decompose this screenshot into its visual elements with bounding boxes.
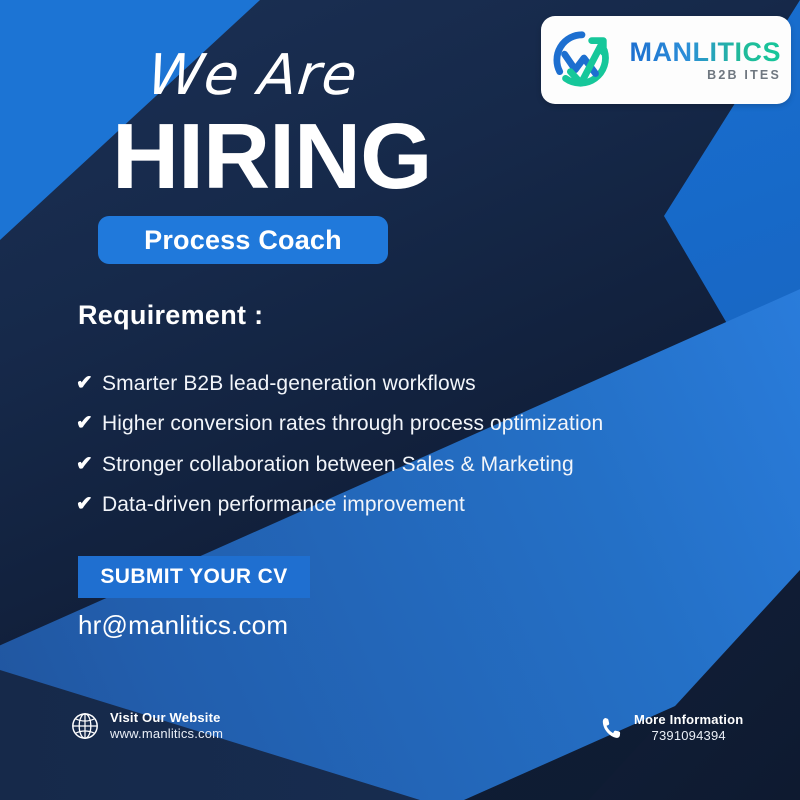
hiring-poster: MANLITICS B2B ITES We Are HIRING Process… [0,0,800,800]
check-icon: ✔ [76,491,102,518]
footer-website-text: Visit Our Website www.manlitics.com [110,710,223,743]
list-item: ✔ Higher conversion rates through proces… [76,410,716,438]
check-icon: ✔ [76,451,102,478]
footer-website[interactable]: Visit Our Website www.manlitics.com [70,710,223,743]
submit-cv-button[interactable]: SUBMIT YOUR CV [78,556,310,598]
footer-phone-number: 7391094394 [652,728,726,744]
role-badge-label: Process Coach [144,225,342,256]
list-item: ✔ Stronger collaboration between Sales &… [76,451,716,479]
check-icon: ✔ [76,410,102,437]
globe-icon [70,711,100,741]
list-item: ✔ Data-driven performance improvement [76,491,716,519]
footer-phone-text: More Information 7391094394 [634,712,743,745]
footer-website-url: www.manlitics.com [110,726,223,742]
circular-growth-arrow-logo-icon [551,29,613,91]
footer-phone-title: More Information [634,712,743,728]
brand-logo-card: MANLITICS B2B ITES [541,16,791,104]
phone-icon [598,715,624,741]
brand-tagline: B2B ITES [707,69,781,82]
list-item-label: Smarter B2B lead-generation workflows [102,370,476,398]
footer-phone[interactable]: More Information 7391094394 [598,712,743,745]
role-badge: Process Coach [98,216,388,264]
footer-website-title: Visit Our Website [110,710,223,726]
contact-email[interactable]: hr@manlitics.com [78,610,288,641]
requirements-list: ✔ Smarter B2B lead-generation workflows … [76,370,716,531]
brand-name: MANLITICS [630,39,781,66]
list-item-label: Data-driven performance improvement [102,491,465,519]
requirements-title: Requirement : [78,300,263,331]
list-item: ✔ Smarter B2B lead-generation workflows [76,370,716,398]
check-icon: ✔ [76,370,102,397]
brand-wordmark: MANLITICS B2B ITES [617,39,781,82]
page-title: HIRING [112,110,432,203]
list-item-label: Stronger collaboration between Sales & M… [102,451,574,479]
submit-cv-button-label: SUBMIT YOUR CV [100,565,287,589]
list-item-label: Higher conversion rates through process … [102,410,603,438]
headline-script: We Are [145,48,360,104]
